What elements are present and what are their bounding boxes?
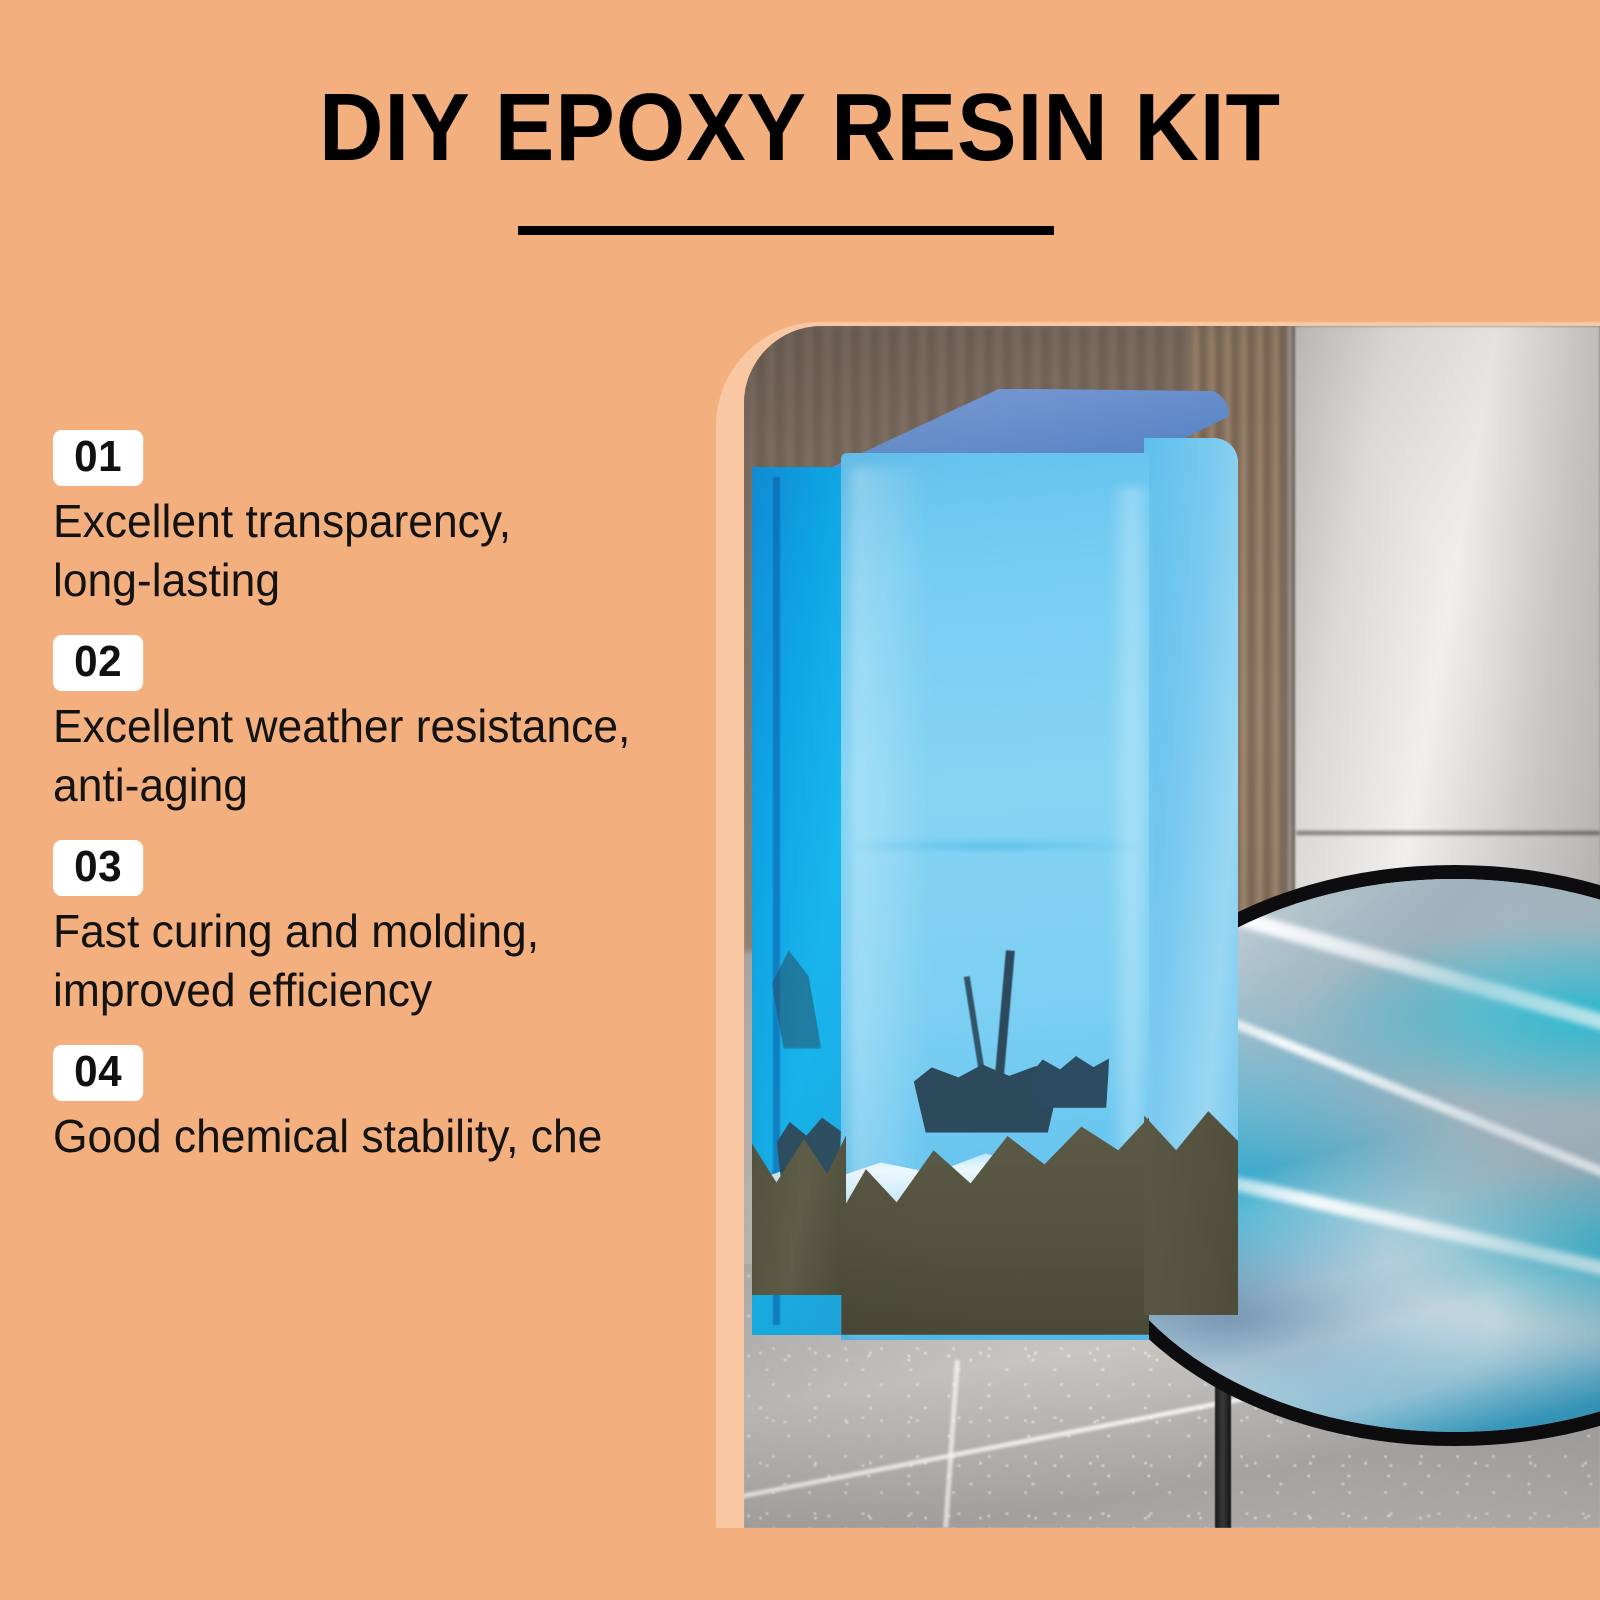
feature-description: Fast curing and molding, improved effici… bbox=[53, 902, 690, 1019]
feature-description: Good chemical stability, che bbox=[53, 1107, 690, 1165]
list-item: 01 Excellent transparency, long-lasting bbox=[53, 430, 713, 609]
feature-description: Excellent transparency, long-lasting bbox=[53, 492, 690, 609]
feature-number-badge: 03 bbox=[53, 840, 143, 896]
resin-block bbox=[744, 389, 1238, 1375]
list-item: 04 Good chemical stability, che bbox=[53, 1045, 713, 1166]
feature-number-badge: 02 bbox=[53, 635, 143, 691]
feature-description: Excellent weather resistance, anti-aging bbox=[53, 697, 690, 814]
feature-number-badge: 01 bbox=[53, 430, 143, 486]
resin-internal-wave bbox=[846, 842, 1144, 850]
feature-list: 01 Excellent transparency, long-lasting … bbox=[53, 430, 713, 1192]
page-title: DIY EPOXY RESIN KIT bbox=[56, 78, 1544, 179]
list-item: 02 Excellent weather resistance, anti-ag… bbox=[53, 635, 713, 814]
feature-number-badge: 04 bbox=[53, 1045, 143, 1101]
background-fridge-seam bbox=[1296, 831, 1600, 835]
list-item: 03 Fast curing and molding, improved eff… bbox=[53, 840, 713, 1019]
product-photo bbox=[744, 326, 1600, 1528]
title-underline bbox=[518, 226, 1054, 235]
